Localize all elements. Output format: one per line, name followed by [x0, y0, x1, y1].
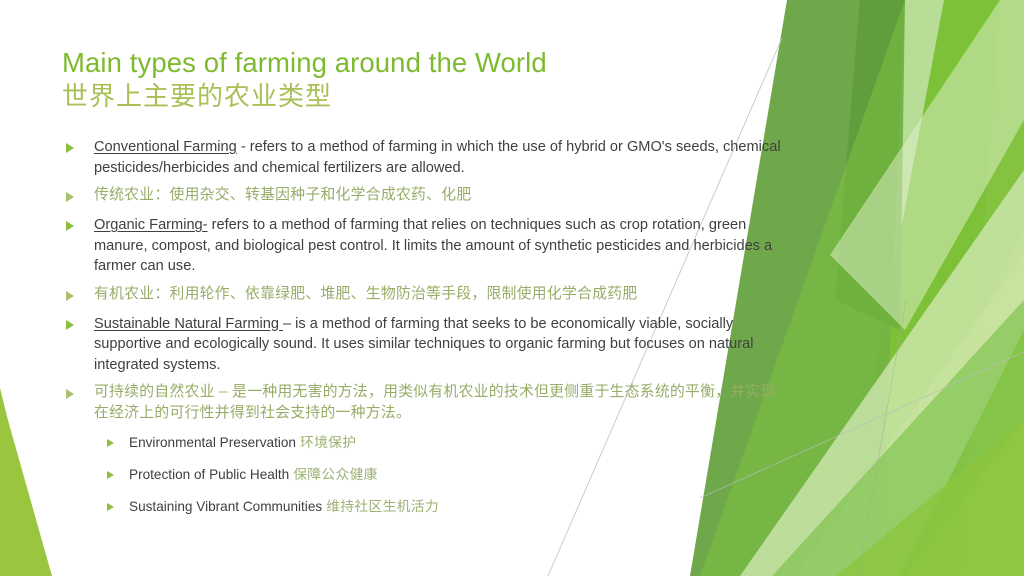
bullet-term: Organic Farming-: [94, 217, 208, 233]
bullet-triangle-icon: [66, 291, 74, 301]
bullet-sustainable-farming-zh: 可持续的自然农业 – 是一种用无害的方法，用类似有机农业的技术但更侧重于生态系统…: [62, 382, 782, 424]
bullet-text: Conventional Farming - refers to a metho…: [94, 139, 781, 176]
bullet-conventional-farming-en: Conventional Farming - refers to a metho…: [62, 137, 782, 178]
bullet-term: Sustainable Natural Farming: [94, 316, 283, 332]
bullet-text: Sustainable Natural Farming – is a metho…: [94, 316, 754, 373]
page-title-english: Main types of farming around the World: [62, 46, 782, 80]
bullet-text-chinese: 可持续的自然农业 – 是一种用无害的方法，用类似有机农业的技术但更侧重于生态系统…: [94, 384, 776, 421]
sub-bullet-protection-public-health: Protection of Public Health保障公众健康: [101, 466, 782, 484]
bullet-organic-farming-en: Organic Farming- refers to a method of f…: [62, 215, 782, 277]
sub-bullet-english: Protection of Public Health: [129, 467, 289, 482]
bullet-text: Organic Farming- refers to a method of f…: [94, 217, 772, 274]
bullet-triangle-icon: [66, 143, 74, 153]
slide-canvas: Main types of farming around the World 世…: [0, 0, 1024, 576]
bullet-triangle-icon: [66, 389, 74, 399]
sub-bullet-english: Environmental Preservation: [129, 435, 296, 450]
sub-bullet-environmental-preservation: Environmental Preservation环境保护: [101, 434, 782, 452]
sub-bullet-chinese: 保障公众健康: [293, 467, 378, 482]
bullet-conventional-farming-zh: 传统农业：使用杂交、转基因种子和化学合成农药、化肥: [62, 185, 782, 206]
bullet-text-chinese: 有机农业：利用轮作、依靠绿肥、堆肥、生物防治等手段，限制使用化学合成药肥: [94, 286, 638, 302]
sub-bullet-list: Environmental Preservation环境保护 Protectio…: [101, 434, 782, 516]
bullet-term: Conventional Farming: [94, 139, 237, 155]
page-title-chinese: 世界上主要的农业类型: [62, 80, 782, 113]
sub-bullet-english: Sustaining Vibrant Communities: [129, 499, 322, 514]
bullet-text-chinese: 传统农业：使用杂交、转基因种子和化学合成农药、化肥: [94, 187, 471, 203]
sub-bullet-chinese: 维持社区生机活力: [326, 499, 439, 514]
sub-bullet-text: Sustaining Vibrant Communities维持社区生机活力: [129, 499, 439, 514]
sub-bullet-text: Environmental Preservation环境保护: [129, 435, 356, 450]
sub-bullet-text: Protection of Public Health保障公众健康: [129, 467, 378, 482]
bullet-triangle-icon: [66, 221, 74, 231]
bullet-triangle-icon: [66, 192, 74, 202]
slide-content: Main types of farming around the World 世…: [62, 46, 782, 530]
bullet-triangle-icon: [107, 471, 114, 479]
sub-bullet-chinese: 环境保护: [300, 435, 356, 450]
sub-bullet-sustaining-vibrant-communities: Sustaining Vibrant Communities维持社区生机活力: [101, 498, 782, 516]
bullet-list: Conventional Farming - refers to a metho…: [62, 137, 782, 424]
bullet-triangle-icon: [107, 439, 114, 447]
bullet-sustainable-farming-en: Sustainable Natural Farming – is a metho…: [62, 314, 782, 376]
bullet-organic-farming-zh: 有机农业：利用轮作、依靠绿肥、堆肥、生物防治等手段，限制使用化学合成药肥: [62, 284, 782, 305]
bullet-triangle-icon: [66, 320, 74, 330]
bullet-triangle-icon: [107, 503, 114, 511]
